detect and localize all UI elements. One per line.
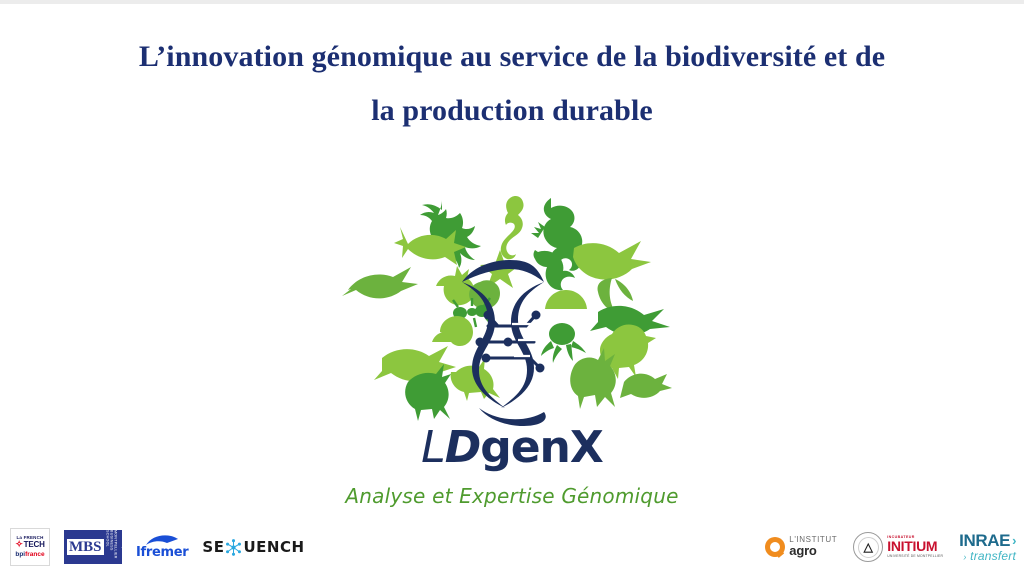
institut-agro-logo: L'INSTITUT agro: [765, 536, 837, 558]
french-tech-bpifrance-logo: La FRENCH ✧ TECH bpifrance: [10, 528, 50, 566]
chevron-right-icon: ›: [1012, 534, 1016, 547]
brand-gen: gen: [480, 422, 570, 473]
footer-left-logos: La FRENCH ✧ TECH bpifrance MBS MONTPELLI…: [10, 524, 305, 570]
sequench-text-b: UENCH: [243, 538, 304, 556]
french-tech-line2: TECH: [24, 541, 45, 549]
university-seal-icon: △: [853, 532, 883, 562]
footer-right-logos: L'INSTITUT agro △ INCUBATEUR INITIUM UNI…: [765, 524, 1016, 570]
inrae-wordmark: INRAE: [959, 532, 1010, 549]
initium-line3: UNIVERSITÉ DE MONTPELLIER: [887, 555, 943, 558]
orange-circle-q-icon: [765, 537, 785, 557]
initium-line2: INITIUM: [887, 539, 943, 553]
institut-agro-line2: agro: [789, 544, 837, 558]
brand-name: LDgenX: [312, 422, 712, 473]
mbs-school-name: MONTPELLIER BUSINESS SCHOOL: [106, 530, 118, 564]
ifremer-logo: Ifremer: [136, 534, 188, 560]
brand-letter-l: L: [421, 422, 445, 473]
brand-tagline: Analyse et Expertise Génomique: [312, 484, 712, 508]
title-line-1: L’innovation génomique au service de la …: [80, 30, 944, 84]
rooster-icon: ✧: [15, 540, 22, 549]
bpifrance-france: france: [25, 551, 45, 558]
animal-silhouettes: [342, 196, 672, 421]
initium-incubateur-logo: △ INCUBATEUR INITIUM UNIVERSITÉ DE MONTP…: [853, 532, 943, 562]
inrae-dot-icon: ›: [963, 552, 966, 562]
biodiversity-dna-helix-logo: [312, 186, 712, 426]
title-line-2: la production durable: [80, 84, 944, 138]
brand-letter-x: X: [570, 422, 603, 473]
sequench-logo: SE: [202, 538, 304, 556]
brand-letter-d: D: [445, 422, 481, 473]
sequench-text-a: SE: [202, 538, 224, 556]
mbs-alumni-logo: MBS MONTPELLIER BUSINESS SCHOOL ALUMNI: [64, 530, 122, 564]
top-strip: [0, 0, 1024, 4]
ldgenx-logo-block: LDgenX Analyse et Expertise Génomique: [312, 186, 712, 511]
mbs-letters: MBS: [67, 539, 104, 555]
molecule-q-icon: [225, 539, 242, 556]
bpifrance-bpi: bpi: [15, 551, 25, 558]
inrae-transfert-logo: INRAE › › transfert: [959, 532, 1016, 562]
presentation-slide: L’innovation génomique au service de la …: [0, 0, 1024, 576]
inrae-transfert-label: transfert: [970, 549, 1016, 563]
ifremer-wordmark: Ifremer: [136, 545, 188, 560]
page-title: L’innovation génomique au service de la …: [80, 30, 944, 138]
